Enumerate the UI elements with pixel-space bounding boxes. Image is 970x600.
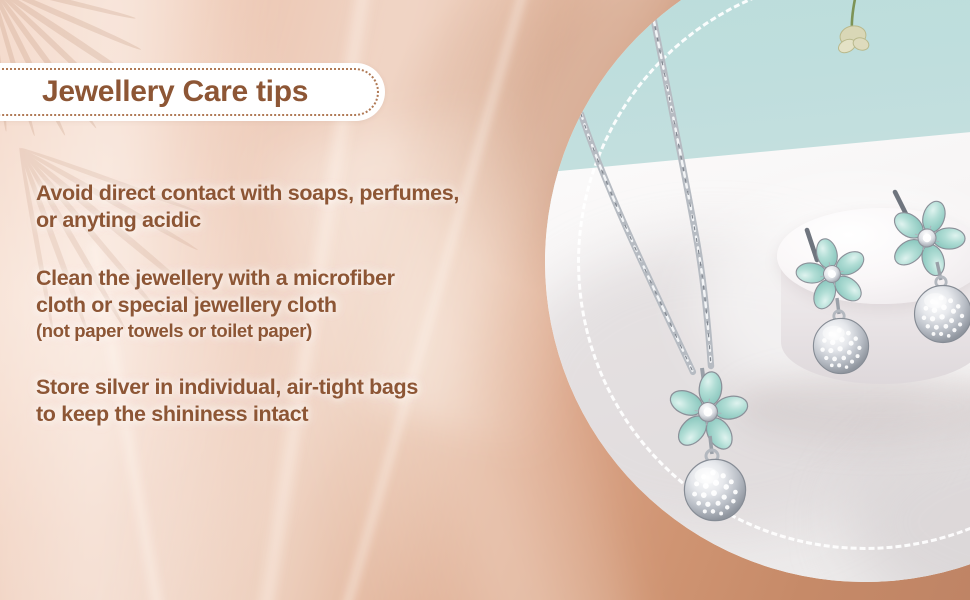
tip-store-airtight: Store silver in individual, air-tight ba… xyxy=(36,374,566,428)
jewellery-care-banner: Jewellery Care tips Avoid direct contact… xyxy=(0,0,970,600)
page-title: Jewellery Care tips xyxy=(42,75,308,109)
tip-clean-microfiber: Clean the jewellery with a microfiberclo… xyxy=(36,265,566,343)
title-badge: Jewellery Care tips xyxy=(0,63,385,121)
care-tip-line: cloth or special jewellery cloth xyxy=(36,292,566,319)
care-tip-line: or anyting acidic xyxy=(36,207,566,234)
care-tip-line: Store silver in individual, air-tight ba… xyxy=(36,374,566,401)
product-photo xyxy=(545,0,970,582)
riser xyxy=(773,208,970,404)
care-tip-line: (not paper towels or toilet paper) xyxy=(36,319,566,343)
care-tips-list: Avoid direct contact with soaps, perfume… xyxy=(36,180,566,428)
care-tip-line: to keep the shininess intact xyxy=(36,401,566,428)
care-tip-line: Clean the jewellery with a microfiber xyxy=(36,265,566,292)
tip-avoid-chemicals: Avoid direct contact with soaps, perfume… xyxy=(36,180,566,234)
care-tip-line: Avoid direct contact with soaps, perfume… xyxy=(36,180,566,207)
